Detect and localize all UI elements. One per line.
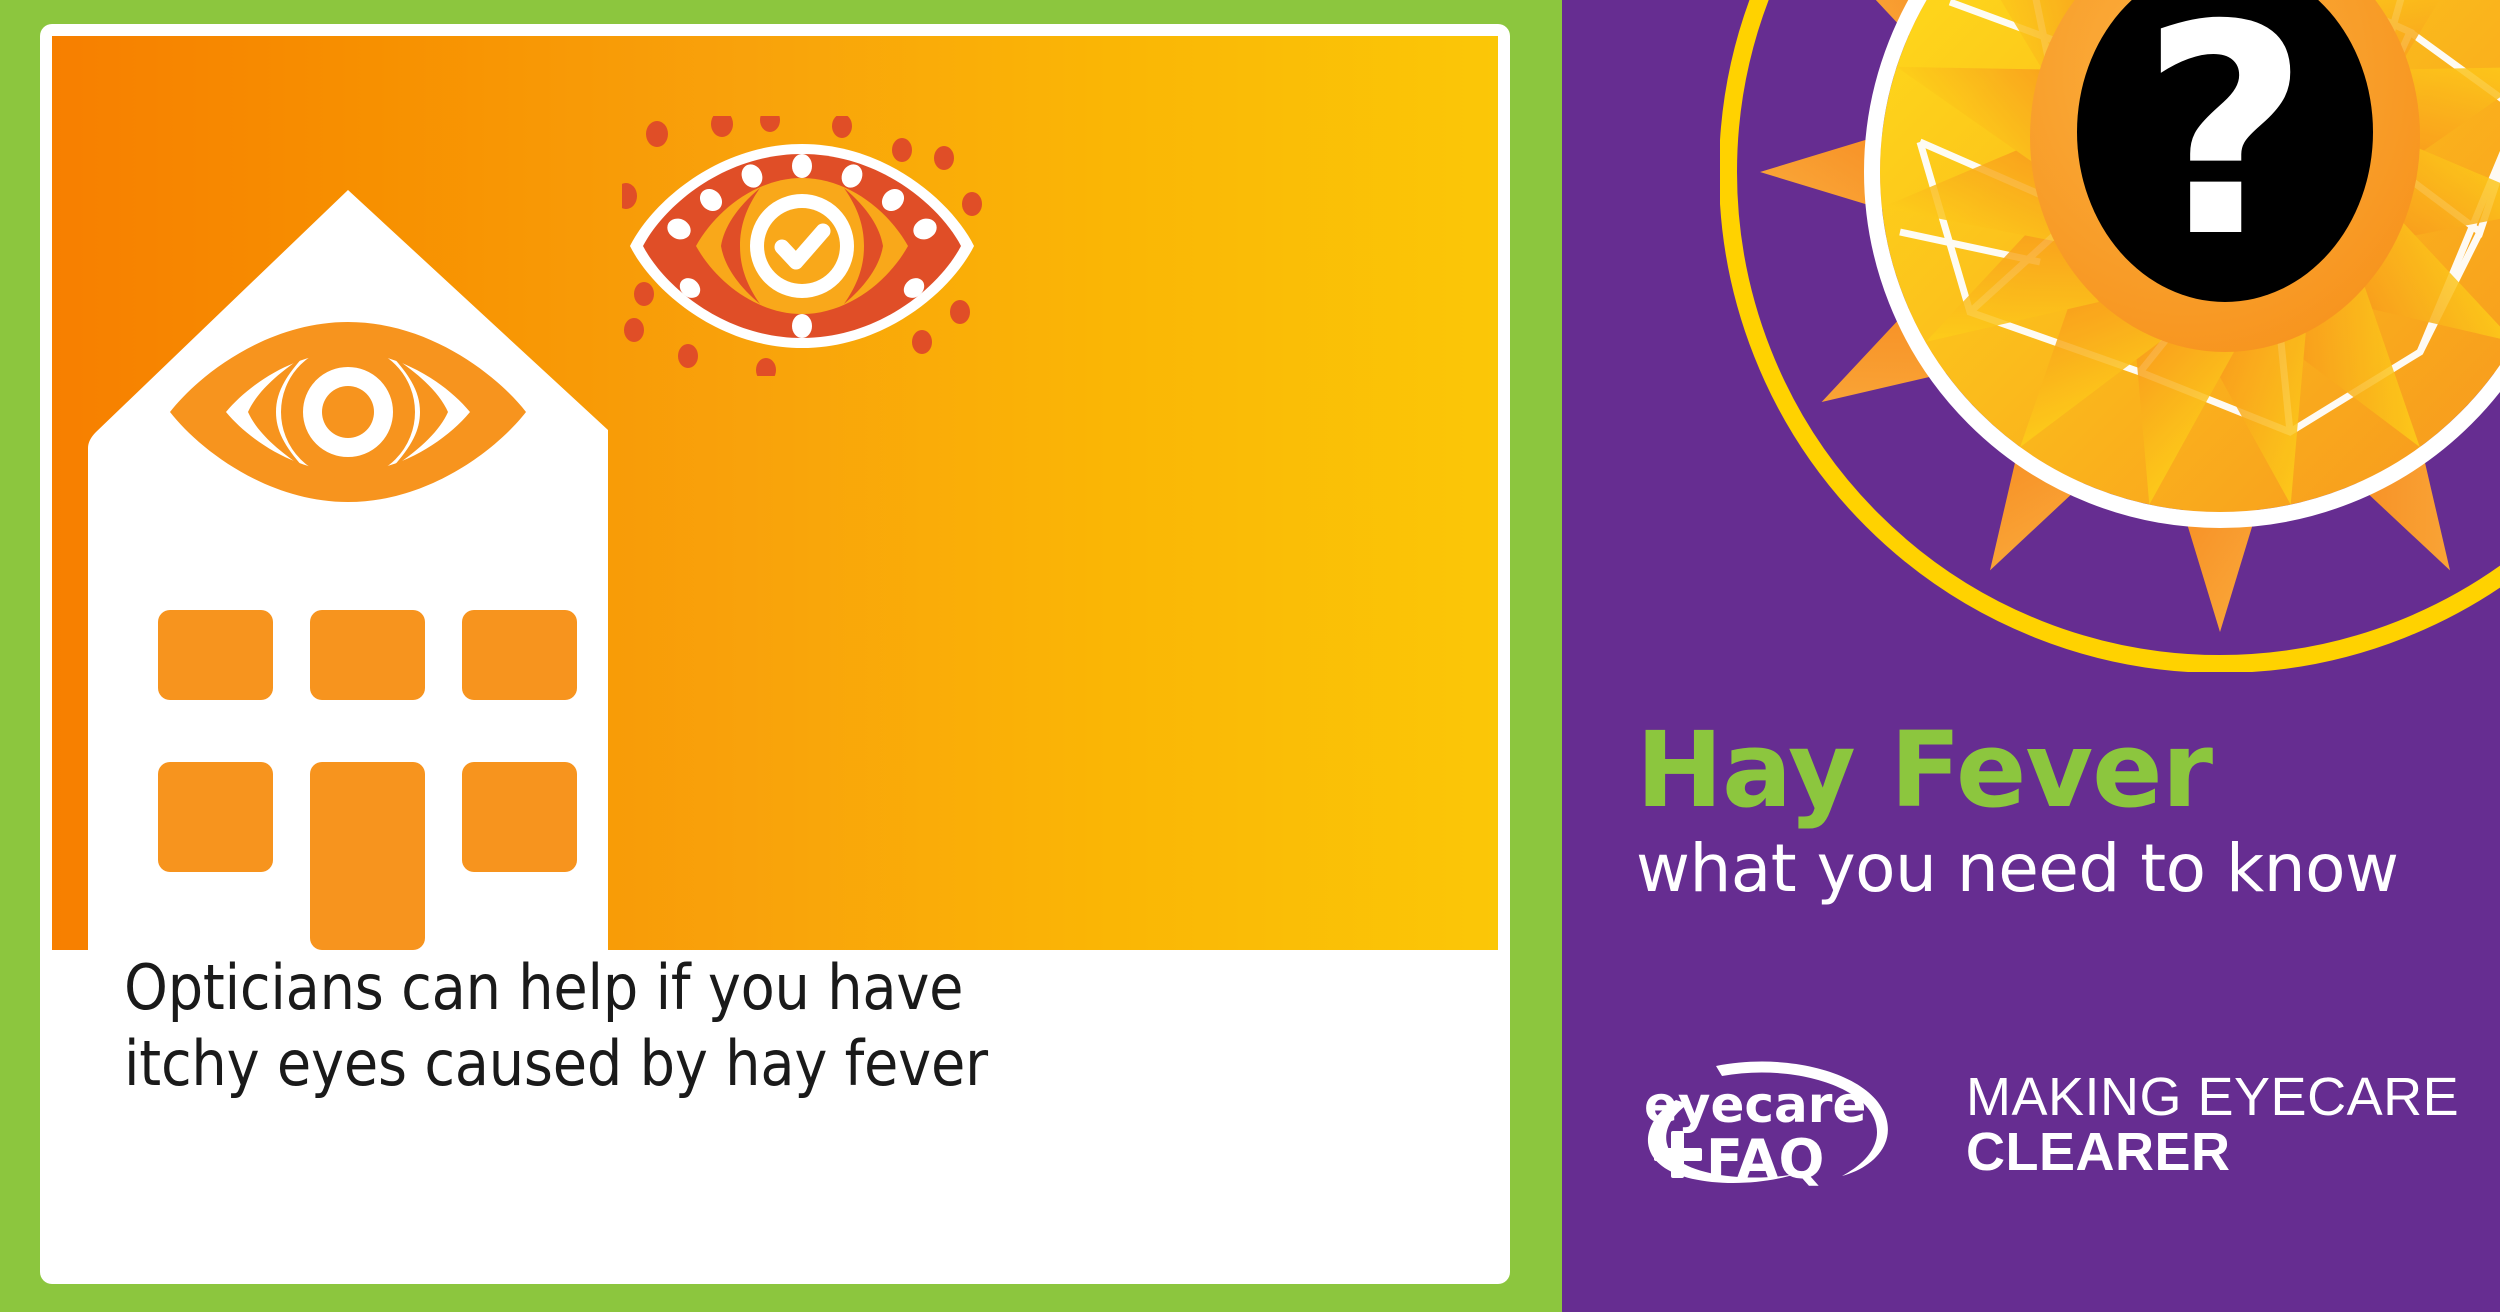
brand-tagline: MAKING EYECARE CLEARER — [1966, 1070, 2459, 1180]
illustration-area — [52, 36, 1498, 950]
brand-logo-block: eyecare FAQ MAKING EYECARE CLEARER — [1636, 1060, 2459, 1190]
page-title: Hay Fever — [1636, 718, 2476, 822]
hay-fever-poster: Opticians can help if you have itchy eye… — [0, 0, 2500, 1312]
logo-word-faq: FAQ — [1706, 1128, 1824, 1190]
left-green-panel: Opticians can help if you have itchy eye… — [0, 0, 1562, 1312]
tagline-line-2: CLEARER — [1966, 1125, 2459, 1180]
logo-word-eyecare: eyecare — [1644, 1076, 1866, 1134]
info-card: Opticians can help if you have itchy eye… — [40, 24, 1510, 1284]
question-mark-glyph: ? — [2141, 0, 2309, 301]
sun-burst-graphic: ? — [1720, 0, 2500, 672]
caption-text: Opticians can help if you have itchy eye… — [124, 950, 1498, 1103]
decorated-eye-check-icon — [622, 116, 982, 376]
tagline-line-1: MAKING EYECARE — [1966, 1070, 2459, 1125]
eyecare-faq-logo-icon: eyecare FAQ — [1636, 1060, 1926, 1190]
page-subtitle: what you need to know — [1636, 836, 2476, 902]
headline-block: Hay Fever what you need to know — [1636, 718, 2476, 902]
card-caption: Opticians can help if you have itchy eye… — [40, 950, 1510, 1103]
right-purple-panel: ? Hay Fever what you need to know eyecar… — [1562, 0, 2500, 1312]
opticians-building-eye-icon — [88, 190, 608, 950]
